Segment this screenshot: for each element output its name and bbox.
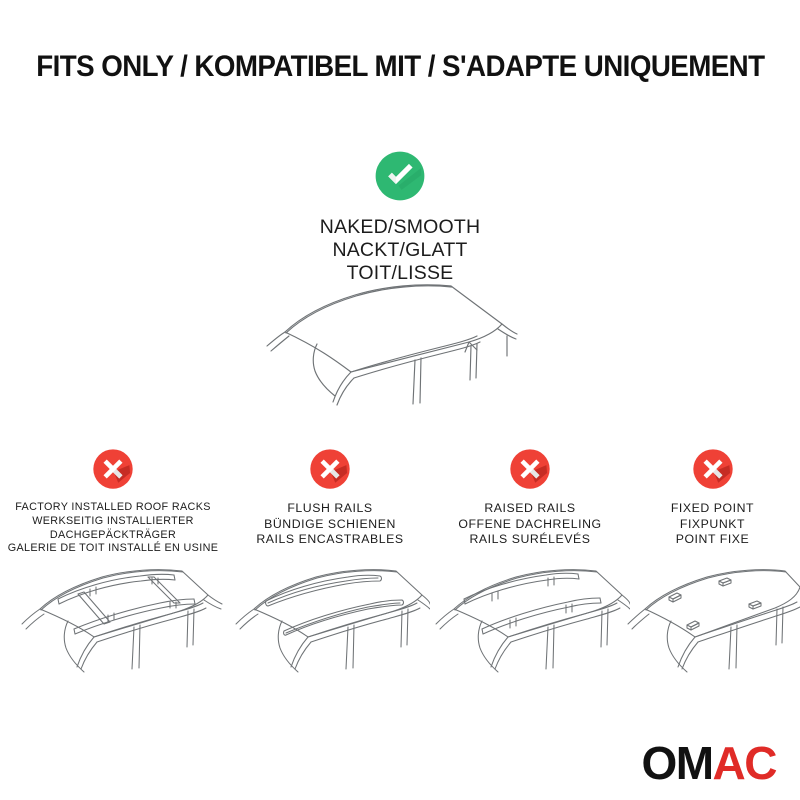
x-circle-icon [692, 448, 734, 490]
label-en: FLUSH RAILS [230, 501, 430, 517]
incompatible-option-fixed-point: FIXED POINT FIXPUNKT POINT FIXE [625, 448, 800, 548]
compatible-option-naked-smooth: NAKED/SMOOTH NACKT/GLATT TOIT/LISSE [250, 150, 550, 284]
incompatible-options-row: FACTORY INSTALLED ROOF RACKS WERKSEITIG … [0, 448, 800, 698]
label-en: FACTORY INSTALLED ROOF RACKS [2, 501, 224, 515]
incompatible-option-labels: FIXED POINT FIXPUNKT POINT FIXE [625, 501, 800, 548]
label-de: NACKT/GLATT [250, 239, 550, 262]
car-roof-flush-rails-illustration [230, 551, 430, 686]
brand-logo-part-b: AC [713, 737, 776, 789]
x-circle-icon [92, 448, 134, 490]
page-title: FITS ONLY / KOMPATIBEL MIT / S'ADAPTE UN… [36, 50, 764, 84]
incompatible-option-raised-rails: RAISED RAILS OFFENE DACHRELING RAILS SUR… [430, 448, 630, 548]
check-circle-icon [374, 150, 426, 202]
label-en: RAISED RAILS [430, 501, 630, 517]
incompatible-option-labels: FACTORY INSTALLED ROOF RACKS WERKSEITIG … [2, 501, 224, 556]
car-roof-raised-rails-illustration [430, 551, 630, 686]
brand-logo-omac: OMAC [641, 740, 776, 786]
x-circle-icon [309, 448, 351, 490]
incompatible-option-labels: RAISED RAILS OFFENE DACHRELING RAILS SUR… [430, 501, 630, 548]
x-circle-icon [509, 448, 551, 490]
label-de: OFFENE DACHRELING [430, 517, 630, 533]
label-de-line1: WERKSEITIG INSTALLIERTER [2, 515, 224, 529]
incompatible-option-flush-rails: FLUSH RAILS BÜNDIGE SCHIENEN RAILS ENCAS… [230, 448, 430, 548]
brand-logo-part-a: OM [641, 737, 712, 789]
header: FITS ONLY / KOMPATIBEL MIT / S'ADAPTE UN… [0, 50, 800, 84]
label-fr: POINT FIXE [625, 532, 800, 548]
label-en: FIXED POINT [625, 501, 800, 517]
label-de: BÜNDIGE SCHIENEN [230, 517, 430, 533]
label-en: NAKED/SMOOTH [250, 216, 550, 239]
label-de: FIXPUNKT [625, 517, 800, 533]
label-de-line2: DACHGEPÄCKTRÄGER [2, 529, 224, 543]
incompatible-option-labels: FLUSH RAILS BÜNDIGE SCHIENEN RAILS ENCAS… [230, 501, 430, 548]
label-fr: RAILS ENCASTRABLES [230, 532, 430, 548]
car-roof-fixed-point-illustration [625, 551, 800, 686]
car-roof-naked-smooth-illustration [255, 272, 555, 412]
car-roof-factory-rack-illustration [2, 551, 224, 686]
label-fr: RAILS SURÉLEVÉS [430, 532, 630, 548]
incompatible-option-factory-installed-roof-racks: FACTORY INSTALLED ROOF RACKS WERKSEITIG … [2, 448, 224, 556]
